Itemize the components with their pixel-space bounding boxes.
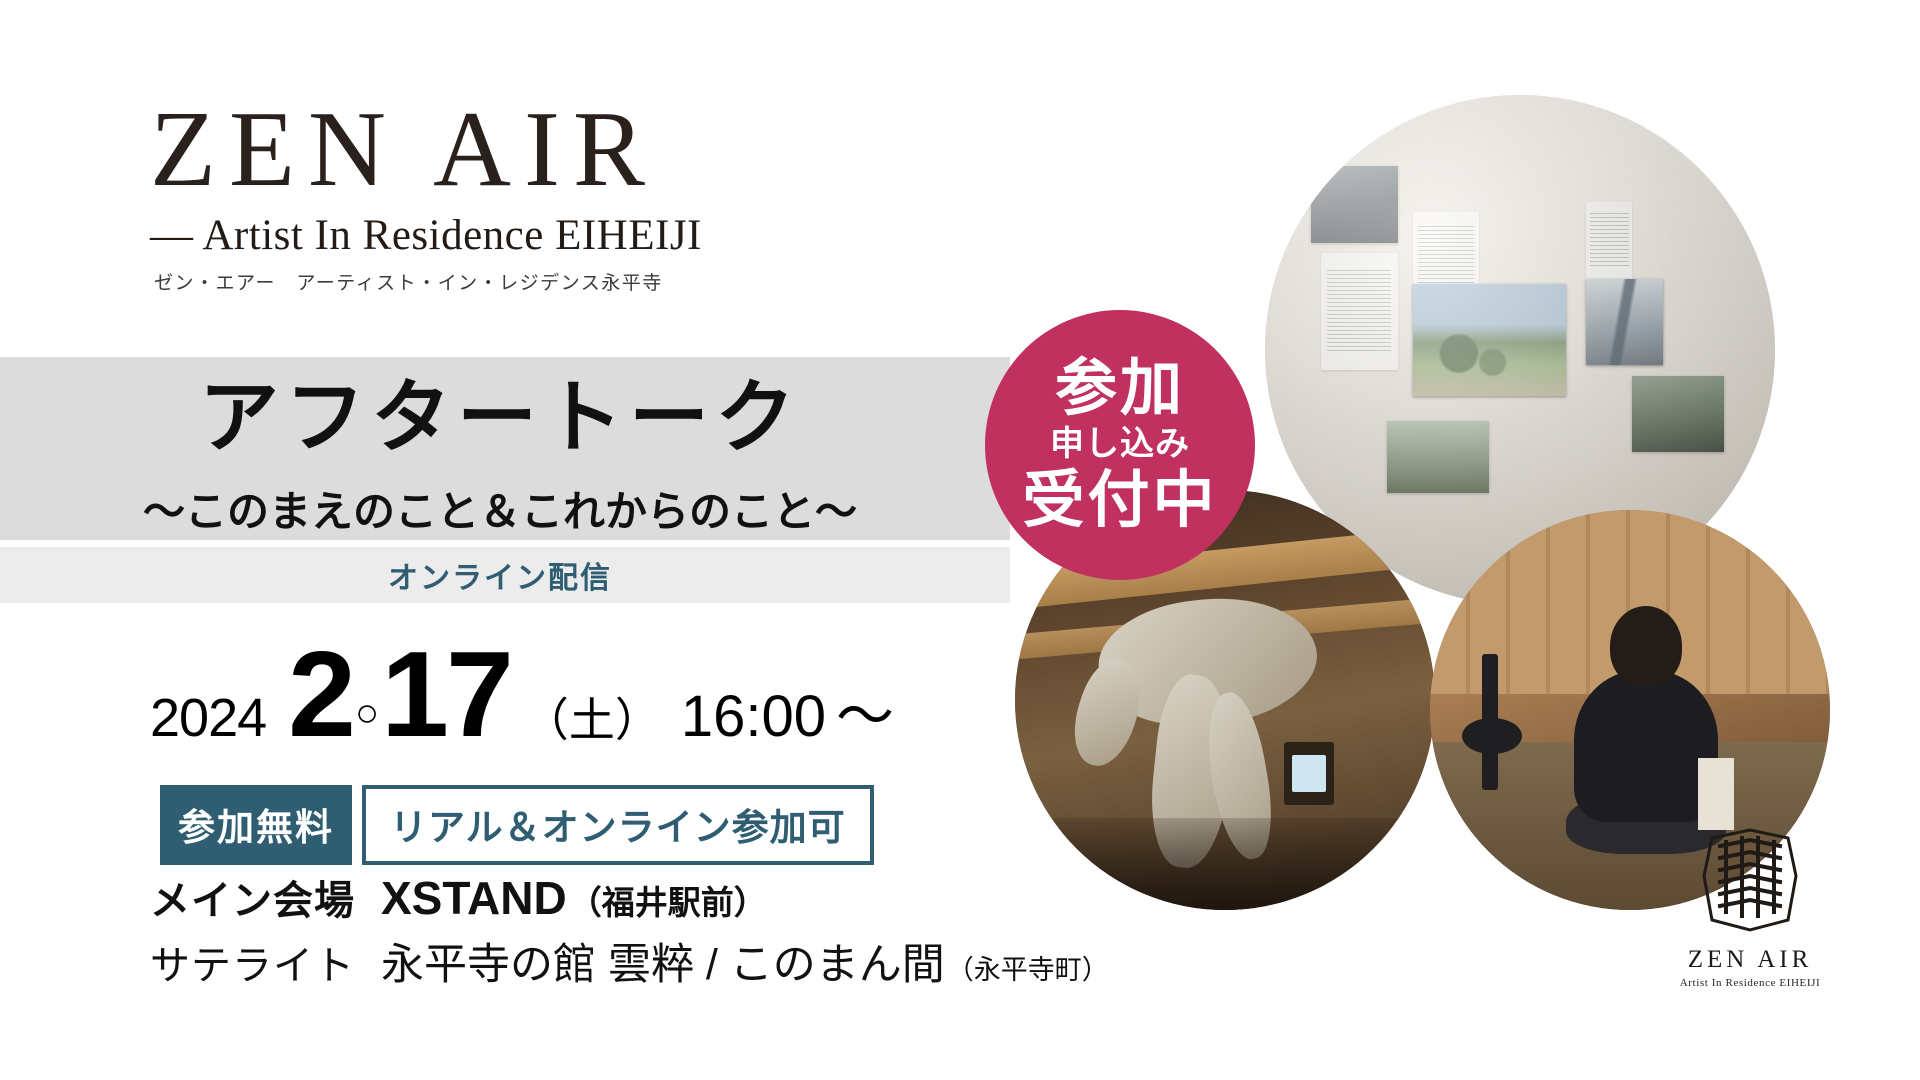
seated-person-head bbox=[1610, 606, 1682, 686]
brand-logo-block: ZEN AIR — Artist In Residence EIHEIJI ゼン… bbox=[150, 95, 702, 295]
badge-free-admission: 参加無料 bbox=[160, 785, 352, 865]
event-datetime: 2024 2 ○ 17 （土） 16:00 ～ bbox=[150, 640, 894, 753]
date-start-time: 16:00 bbox=[681, 683, 826, 750]
application-badge-line1: 参加 bbox=[1055, 357, 1185, 420]
venue-information: メイン会場 XSTAND （福井駅前） サテライト 永平寺の館 雲粹 / このま… bbox=[150, 868, 1109, 996]
application-badge-line2: 申し込み bbox=[1050, 422, 1190, 466]
seated-person-body bbox=[1574, 670, 1718, 822]
badge-hybrid-attendance: リアル＆オンライン参加可 bbox=[362, 785, 874, 865]
venue-main-line: メイン会場 XSTAND （福井駅前） bbox=[150, 868, 1109, 926]
hanging-fixture-bell bbox=[1462, 718, 1522, 754]
brand-mark-title: ZEN AIR bbox=[1660, 946, 1840, 974]
brand-logo-kana-reading: ゼン・エアー アーティスト・イン・レジデンス永平寺 bbox=[154, 268, 702, 295]
brand-mark-block: ZEN AIR Artist In Residence EIHEIJI bbox=[1660, 820, 1840, 989]
brand-logo-wordmark: ZEN AIR bbox=[150, 95, 702, 205]
application-open-badge: 参加 申し込み 受付中 bbox=[985, 310, 1255, 580]
venue-satellite-line: サテライト 永平寺の館 雲粹 / このまん間 （永平寺町） bbox=[150, 930, 1109, 992]
participation-badges: 参加無料 リアル＆オンライン参加可 bbox=[160, 785, 874, 865]
venue-satellite-label: サテライト bbox=[150, 933, 355, 991]
zen-air-logo-icon bbox=[1690, 820, 1810, 940]
venue-satellite-note: （永平寺町） bbox=[947, 948, 1109, 987]
online-streaming-label: オンライン配信 bbox=[0, 553, 1000, 597]
venue-main-label: メイン会場 bbox=[150, 868, 355, 926]
application-badge-line3: 受付中 bbox=[1022, 468, 1217, 533]
event-title: アフタートーク bbox=[0, 375, 1000, 461]
date-day: 17 bbox=[381, 640, 511, 750]
venue-main-note: （福井駅前） bbox=[569, 876, 767, 924]
floor-shadow bbox=[1015, 818, 1435, 910]
brand-logo-tagline: — Artist In Residence EIHEIJI bbox=[150, 211, 702, 260]
date-month: 2 bbox=[288, 640, 353, 750]
date-year: 2024 bbox=[150, 687, 266, 749]
event-subtitle: 〜このまえのこと＆これからのこと〜 bbox=[0, 478, 1000, 539]
date-separator: ○ bbox=[355, 691, 379, 736]
date-time-suffix: ～ bbox=[836, 669, 894, 753]
venue-satellite-name: 永平寺の館 雲粹 / このまん間 bbox=[381, 930, 945, 992]
brand-mark-subtitle: Artist In Residence EIHEIJI bbox=[1660, 977, 1840, 989]
lantern-light bbox=[1292, 755, 1326, 793]
date-day-of-week: （土） bbox=[523, 684, 661, 750]
event-poster: ZEN AIR — Artist In Residence EIHEIJI ゼン… bbox=[0, 0, 1920, 1080]
venue-main-name: XSTAND bbox=[381, 871, 567, 925]
